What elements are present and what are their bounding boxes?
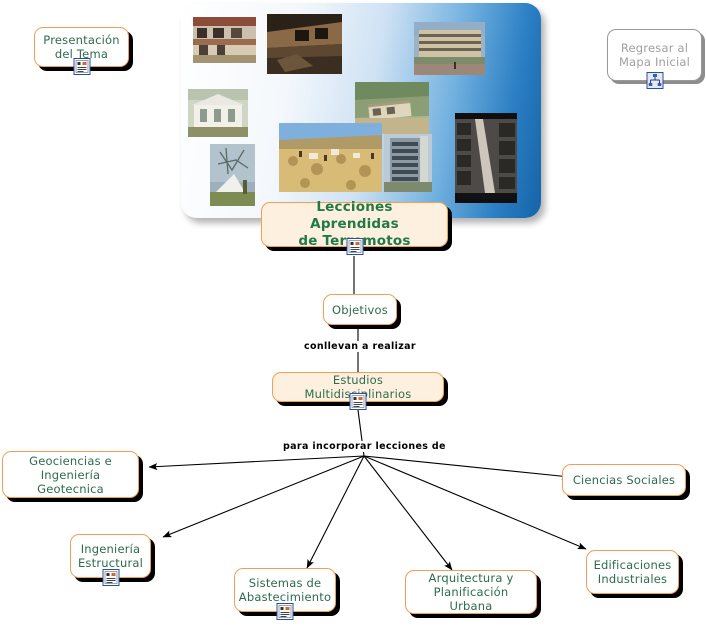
node-label: Ciencias Sociales — [565, 473, 683, 487]
modern-hospital-building-photo — [414, 22, 485, 75]
node-sistemas-de-abastecimiento[interactable]: Sistemas de Abastecimiento — [234, 568, 336, 612]
earthquake-photo-collage — [181, 3, 541, 218]
node-label: Geociencias e Ingeniería Geotecnica — [3, 454, 138, 496]
node-lecciones-aprendidas-de-terremotos[interactable]: Lecciones Aprendidas de Terremotos — [261, 202, 448, 247]
document-icon[interactable] — [350, 393, 367, 410]
node-ingenieria-estructural[interactable]: Ingeniería Estructural — [70, 534, 151, 578]
damaged-concrete-building-photo — [193, 17, 256, 63]
document-icon[interactable] — [73, 58, 90, 75]
collapsed-roof-building-photo — [267, 14, 342, 74]
rubble-field-rescue-photo — [279, 123, 382, 192]
document-icon[interactable] — [102, 569, 119, 586]
node-label: Presentación del Tema — [35, 33, 127, 61]
node-regresar-mapa-inicial[interactable]: Regresar al Mapa Inicial — [607, 29, 702, 81]
document-icon[interactable] — [346, 238, 363, 255]
node-ciencias-sociales[interactable]: Ciencias Sociales — [562, 464, 686, 496]
aerial-city-damage-photo — [455, 113, 517, 203]
node-objetivos[interactable]: Objetivos — [323, 294, 397, 325]
white-wooden-house-photo — [188, 89, 248, 137]
node-label: Sistemas de Abastecimiento — [231, 576, 339, 604]
node-arquitectura-planificacion-urbana[interactable]: Arquitectura y Planificación Urbana — [405, 570, 537, 614]
link-label-conllevan-a-realizar: conllevan a realizar — [301, 341, 419, 352]
node-presentacion-del-tema[interactable]: Presentación del Tema — [34, 27, 129, 67]
node-geociencias-ingenieria-geotecnica[interactable]: Geociencias e Ingeniería Geotecnica — [2, 451, 139, 498]
collapsed-power-tower-photo — [210, 144, 255, 206]
node-label: Regresar al Mapa Inicial — [611, 41, 698, 69]
document-icon[interactable] — [277, 603, 294, 620]
node-label: Ingeniería Estructural — [70, 542, 151, 570]
node-label: Edificaciones Industriales — [586, 558, 680, 586]
concept-map-canvas: Presentación del Tema Regresar al Mapa I… — [0, 0, 706, 626]
node-estudios-multidisciplinarios[interactable]: Estudios Multidisciplinarios — [272, 372, 444, 402]
sitemap-icon[interactable] — [646, 72, 663, 89]
tall-apartment-tower-photo — [384, 134, 432, 192]
link-label-para-incorporar-lecciones-de: para incorporar lecciones de — [280, 441, 449, 452]
node-label: Objetivos — [324, 303, 396, 317]
node-label: Arquitectura y Planificación Urbana — [406, 571, 536, 613]
node-edificaciones-industriales[interactable]: Edificaciones Industriales — [586, 550, 679, 594]
